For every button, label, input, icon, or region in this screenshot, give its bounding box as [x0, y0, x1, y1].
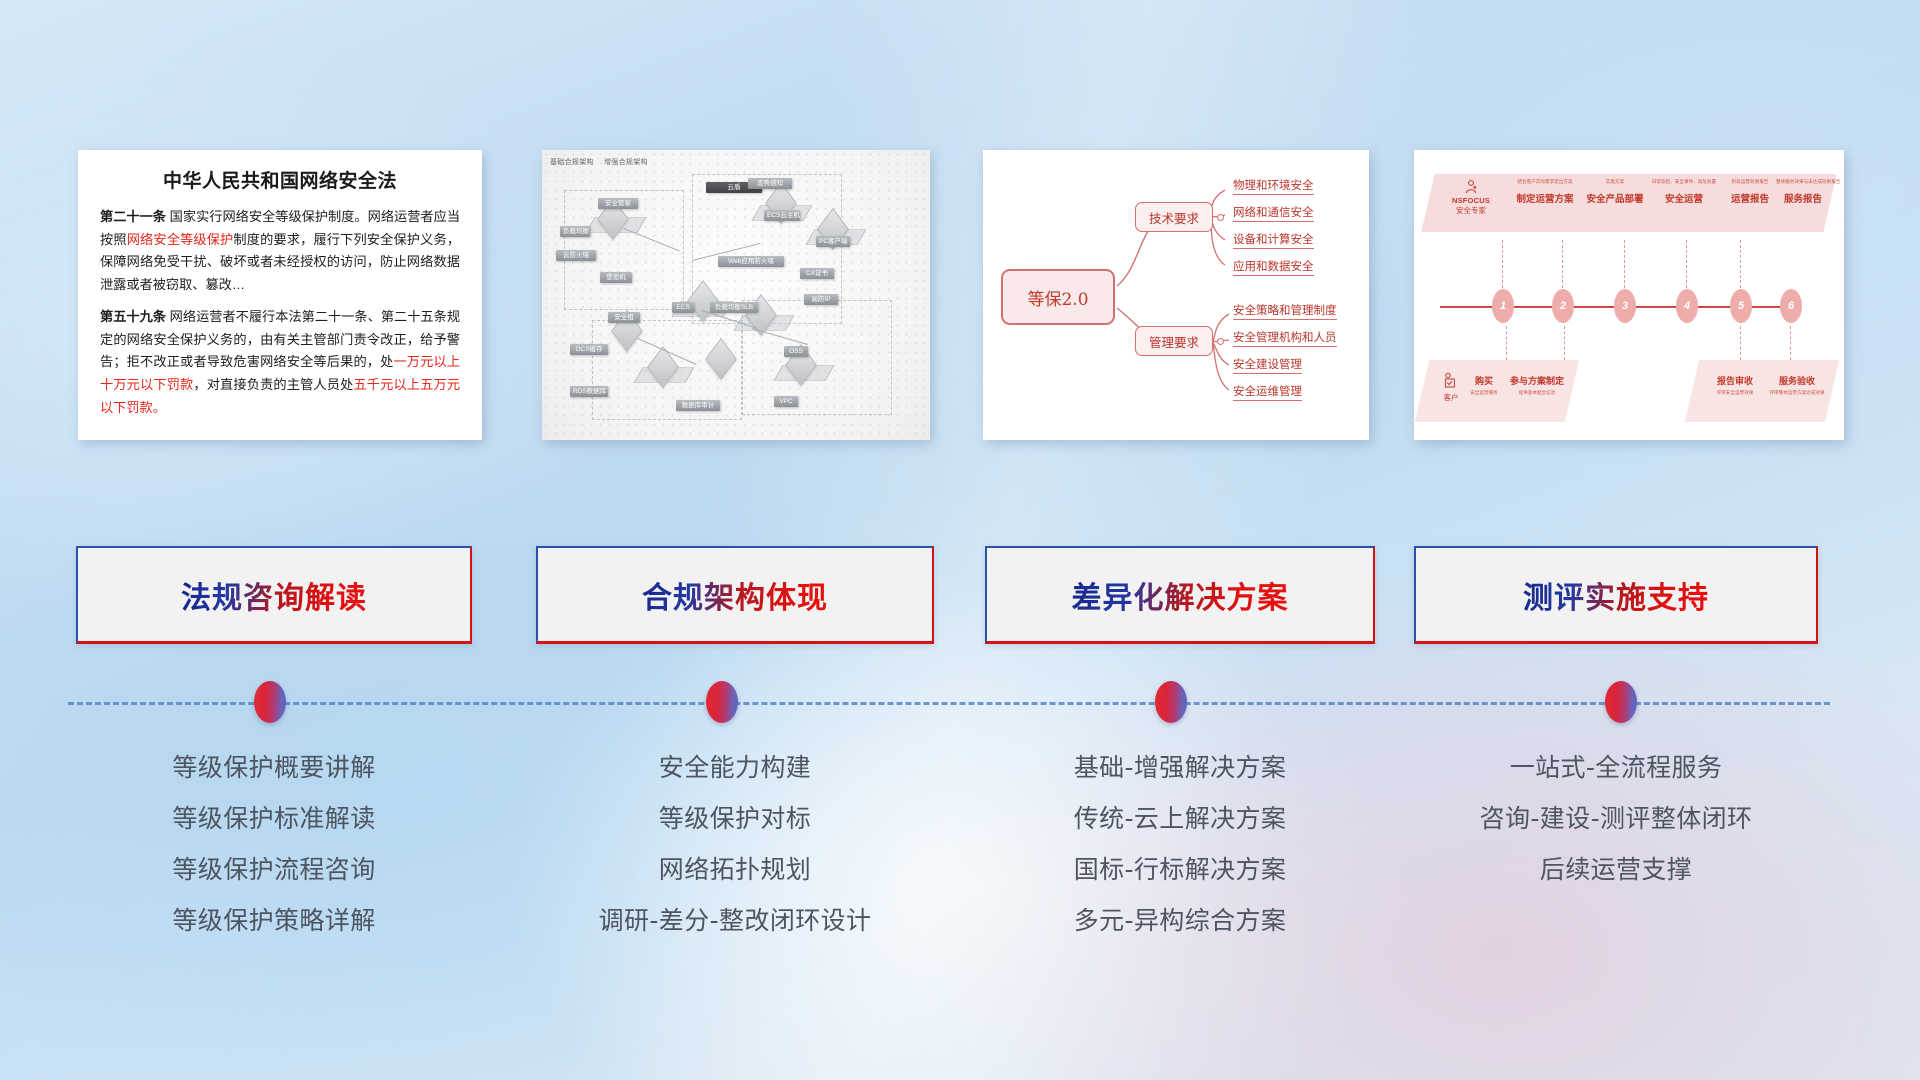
mindmap-leaf-device-compute: 设备和计算安全 [1233, 232, 1314, 249]
nsfocus-customer-card-right-inner: 报告审收 评审安全运营效果 服务验收 评审整体运营方案达成效果 [1692, 360, 1832, 422]
law-article-59: 第五十九条 网络运营者不履行本法第二十一条、第二十五条规定的网络安全保护义务的，… [100, 306, 460, 420]
nsfocus-bottom-item-4: 服务验收 评审整体运营方案达成效果 [1764, 374, 1830, 396]
arch-label-pc-client: PC客户端 [816, 236, 850, 247]
law-title: 中华人民共和国网络安全法 [100, 166, 460, 193]
nsfocus-step-5-sub: 整体服务效果与未达成效果报告 [1776, 178, 1830, 186]
list-item: 等级保护标准解读 [76, 793, 472, 844]
detail-list-1: 等级保护概要讲解 等级保护标准解读 等级保护流程咨询 等级保护策略详解 [76, 742, 472, 946]
nsfocus-logo-name: NSFOCUS [1442, 196, 1500, 205]
law-article-21-label: 第二十一条 [100, 209, 166, 224]
nsfocus-step-1-main: 制定运营方案 [1506, 191, 1584, 205]
list-item: 调研-差分-整改闭环设计 [536, 895, 934, 946]
nsfocus-step-3-main: 安全运营 [1646, 191, 1722, 205]
nsfocus-timeline-card: NSFOCUS 安全专家 结合客户实际需求定出方案 制定运营方案 实施方案 安全… [1414, 150, 1844, 440]
nsfocus-tick-4 [1686, 240, 1687, 288]
list-item: 基础-增强解决方案 [985, 742, 1375, 793]
nsfocus-bottom-item-1-sub: 安全运营服务 [1464, 390, 1504, 396]
nsfocus-canvas: NSFOCUS 安全专家 结合客户实际需求定出方案 制定运营方案 实施方案 安全… [1414, 150, 1844, 440]
section-header-box-3[interactable]: 差异化解决方案 [985, 546, 1375, 644]
slide-root: 中华人民共和国网络安全法 第二十一条 国家实行网络安全等级保护制度。网络运营者应… [0, 0, 1920, 1080]
arch-label-ca-cert: CA证书 [800, 268, 834, 279]
list-item: 等级保护对标 [536, 793, 934, 844]
nsfocus-step-5: 整体服务效果与未达成效果报告 服务报告 [1776, 178, 1830, 205]
nsfocus-customer-card-left-inner: 客户 购买 安全运营服务 参与方案制定 提供基本配合信息 [1422, 360, 1572, 422]
nsfocus-tick-3 [1624, 240, 1625, 288]
mindmap-leaf-operations: 安全运维管理 [1233, 384, 1302, 401]
nsfocus-bottom-item-3-main: 报告审收 [1706, 374, 1764, 387]
nsfocus-number-4: 4 [1676, 289, 1698, 323]
nsfocus-bottom-item-1: 购买 安全运营服务 [1464, 374, 1504, 396]
nsfocus-logo-block: NSFOCUS 安全专家 [1442, 179, 1500, 216]
mindmap-leaf-physical-env: 物理和环境安全 [1233, 178, 1314, 195]
mindmap-leaf-org-personnel: 安全管理机构和人员 [1233, 330, 1337, 347]
arch-label-situational: 态势感知 [748, 178, 792, 189]
nsfocus-step-4: 阶段运营效果报告 运营报告 [1716, 178, 1784, 205]
list-item: 一站式-全流程服务 [1414, 742, 1818, 793]
arch-label-slb-balance: 负载均衡SLB [710, 302, 758, 313]
list-item: 咨询-建设-测评整体闭环 [1414, 793, 1818, 844]
section-header-label-4: 测评实施支持 [1523, 573, 1709, 617]
nsfocus-step-1: 结合客户实际需求定出方案 制定运营方案 [1506, 178, 1584, 205]
nsfocus-customer-card-right: 报告审收 评审安全运营效果 服务验收 评审整体运营方案达成效果 [1685, 360, 1839, 422]
nsfocus-bottom-item-4-sub: 评审整体运营方案达成效果 [1764, 390, 1830, 396]
timeline-dot-1 [254, 681, 286, 723]
nsfocus-step-4-sub: 阶段运营效果报告 [1716, 178, 1784, 186]
nsfocus-tick-9 [1790, 326, 1791, 360]
arch-label-ecs-host: ECS云主机 [764, 210, 800, 221]
arch-label-db-audit: 数据库审计 [676, 400, 720, 411]
arch-label-bastion: 堡垒机 [600, 272, 632, 283]
mindmap-branch-management: 管理要求 [1135, 326, 1213, 356]
nsfocus-banner-inner: NSFOCUS 安全专家 结合客户实际需求定出方案 制定运营方案 实施方案 安全… [1428, 174, 1830, 232]
nsfocus-number-2: 2 [1552, 289, 1574, 323]
nsfocus-step-3-sub: 日常巡检、安全事件、高危处置 [1646, 178, 1722, 186]
arch-label-ecs: ECS [672, 302, 694, 313]
arch-label-slb: 负载均衡 [560, 226, 590, 237]
timeline-dot-4 [1605, 681, 1637, 723]
nsfocus-tick-8 [1740, 326, 1741, 360]
nsfocus-number-3: 3 [1614, 289, 1636, 323]
arch-tab-right-label: 增强合规架构 [604, 157, 648, 167]
mindmap-leaf-policy-system: 安全策略和管理制度 [1233, 303, 1337, 320]
timeline-dot-3 [1155, 681, 1187, 723]
section-header-label-1: 法规咨询解读 [181, 573, 367, 617]
nsfocus-bottom-item-2-main: 参与方案制定 [1504, 374, 1570, 387]
law-article-59-label: 第五十九条 [100, 309, 166, 324]
law-text-card: 中华人民共和国网络安全法 第二十一条 国家实行网络安全等级保护制度。网络运营者应… [78, 150, 482, 440]
nsfocus-customer-label: 客户 [1434, 392, 1468, 403]
detail-list-2: 安全能力构建 等级保护对标 网络拓扑规划 调研-差分-整改闭环设计 [536, 742, 934, 946]
list-item: 等级保护概要讲解 [76, 742, 472, 793]
nsfocus-step-4-main: 运营报告 [1716, 191, 1784, 205]
detail-list-3: 基础-增强解决方案 传统-云上解决方案 国标-行标解决方案 多元-异构综合方案 [985, 742, 1375, 946]
nsfocus-bottom-item-4-main: 服务验收 [1764, 374, 1830, 387]
mindmap-leaf-network-comm: 网络和通信安全 [1233, 205, 1314, 222]
nsfocus-bottom-item-1-main: 购买 [1464, 374, 1504, 387]
law-body: 中华人民共和国网络安全法 第二十一条 国家实行网络安全等级保护制度。网络运营者应… [78, 150, 482, 429]
nsfocus-bottom-item-2-sub: 提供基本配合信息 [1504, 390, 1570, 396]
architecture-canvas: 基础合规架构 增强合规架构 云盾 [542, 150, 930, 440]
arch-label-vpc: VPC [774, 396, 798, 407]
detail-list-4: 一站式-全流程服务 咨询-建设-测评整体闭环 后续运营支撑 [1414, 742, 1818, 895]
timeline-dot-2 [706, 681, 738, 723]
nsfocus-bottom-item-3: 报告审收 评审安全运营效果 [1706, 374, 1764, 396]
law-article-21-highlight: 网络安全等级保护 [127, 232, 234, 247]
section-header-box-2[interactable]: 合规架构体现 [536, 546, 934, 644]
nsfocus-step-2: 实施方案 安全产品部署 [1578, 178, 1652, 205]
law-article-21: 第二十一条 国家实行网络安全等级保护制度。网络运营者应当按照网络安全等级保护制度… [100, 206, 460, 297]
arch-tab-left-label: 基础合规架构 [550, 157, 594, 167]
mindmap-leaf-app-data: 应用和数据安全 [1233, 259, 1314, 276]
nsfocus-customer-block: 客户 [1434, 372, 1468, 403]
arch-label-high-def-ip: 高防IP [804, 294, 838, 305]
nsfocus-expert-banner: NSFOCUS 安全专家 结合客户实际需求定出方案 制定运营方案 实施方案 安全… [1421, 174, 1836, 232]
arch-label-waf: Web应用防火墙 [718, 256, 784, 267]
nsfocus-step-3: 日常巡检、安全事件、高危处置 安全运营 [1646, 178, 1722, 205]
nsfocus-number-6: 6 [1780, 289, 1802, 323]
section-detail-lists: 等级保护概要讲解 等级保护标准解读 等级保护流程咨询 等级保护策略详解 安全能力… [0, 742, 1920, 982]
list-item: 国标-行标解决方案 [985, 844, 1375, 895]
arch-label-cloud-firewall: 云防火墙 [556, 250, 596, 261]
mindmap-branch-technical-dot [1217, 214, 1224, 221]
nsfocus-customer-card-left: 客户 购买 安全运营服务 参与方案制定 提供基本配合信息 [1415, 360, 1579, 422]
arch-label-ocs-cache: OCS缓存 [570, 344, 608, 355]
nsfocus-step-2-sub: 实施方案 [1578, 178, 1652, 186]
section-header-box-4[interactable]: 测评实施支持 [1414, 546, 1818, 644]
nsfocus-logo-sub: 安全专家 [1442, 205, 1500, 216]
image-card-row: 中华人民共和国网络安全法 第二十一条 国家实行网络安全等级保护制度。网络运营者应… [0, 150, 1920, 445]
mindmap-canvas: 等保2.0 技术要求 物理和环境安全 网络和通信安全 设备 [983, 150, 1369, 440]
arch-label-rds: RDS数据库 [570, 386, 608, 397]
arch-label-security-group: 安全组 [608, 312, 640, 323]
section-header-label-3: 差异化解决方案 [1072, 573, 1289, 617]
nsfocus-step-1-sub: 结合客户实际需求定出方案 [1506, 178, 1584, 186]
mindmap-branch-management-dot [1217, 338, 1224, 345]
mindmap-branch-technical: 技术要求 [1135, 202, 1213, 232]
nsfocus-tick-7 [1564, 326, 1565, 360]
mindmap-leaf-construction: 安全建设管理 [1233, 357, 1302, 374]
list-item: 等级保护流程咨询 [76, 844, 472, 895]
list-item: 等级保护策略详解 [76, 895, 472, 946]
section-header-label-2: 合规架构体现 [642, 573, 828, 617]
nsfocus-tick-2 [1562, 240, 1563, 288]
section-header-box-1[interactable]: 法规咨询解读 [76, 546, 472, 644]
nsfocus-step-5-main: 服务报告 [1776, 191, 1830, 205]
arch-label-oss: OSS [784, 346, 808, 357]
mindmap-card: 等保2.0 技术要求 物理和环境安全 网络和通信安全 设备 [983, 150, 1369, 440]
list-item: 传统-云上解决方案 [985, 793, 1375, 844]
customer-checklist-icon [1444, 372, 1459, 390]
architecture-diagram-card: 基础合规架构 增强合规架构 云盾 [542, 150, 930, 440]
nsfocus-tick-6 [1506, 326, 1507, 360]
law-article-59-text-b: ，对直接负责的主管人员处 [193, 377, 353, 392]
list-item: 网络拓扑规划 [536, 844, 934, 895]
nsfocus-bottom-item-3-sub: 评审安全运营效果 [1706, 390, 1764, 396]
nsfocus-bottom-item-2: 参与方案制定 提供基本配合信息 [1504, 374, 1570, 396]
nsfocus-number-5: 5 [1730, 289, 1752, 323]
list-item: 安全能力构建 [536, 742, 934, 793]
nsfocus-tick-5 [1740, 240, 1741, 288]
list-item: 多元-异构综合方案 [985, 895, 1375, 946]
expert-person-icon [1463, 179, 1479, 195]
list-item: 后续运营支撑 [1414, 844, 1818, 895]
timeline-dashed-line [68, 702, 1830, 705]
section-header-row: 法规咨询解读 合规架构体现 差异化解决方案 测评实施支持 [0, 546, 1920, 658]
nsfocus-tick-1 [1502, 240, 1503, 288]
timeline-row [0, 678, 1920, 728]
nsfocus-step-2-main: 安全产品部署 [1578, 191, 1652, 205]
arch-label-security-butler: 安全管家 [598, 198, 638, 209]
nsfocus-number-1: 1 [1492, 289, 1514, 323]
